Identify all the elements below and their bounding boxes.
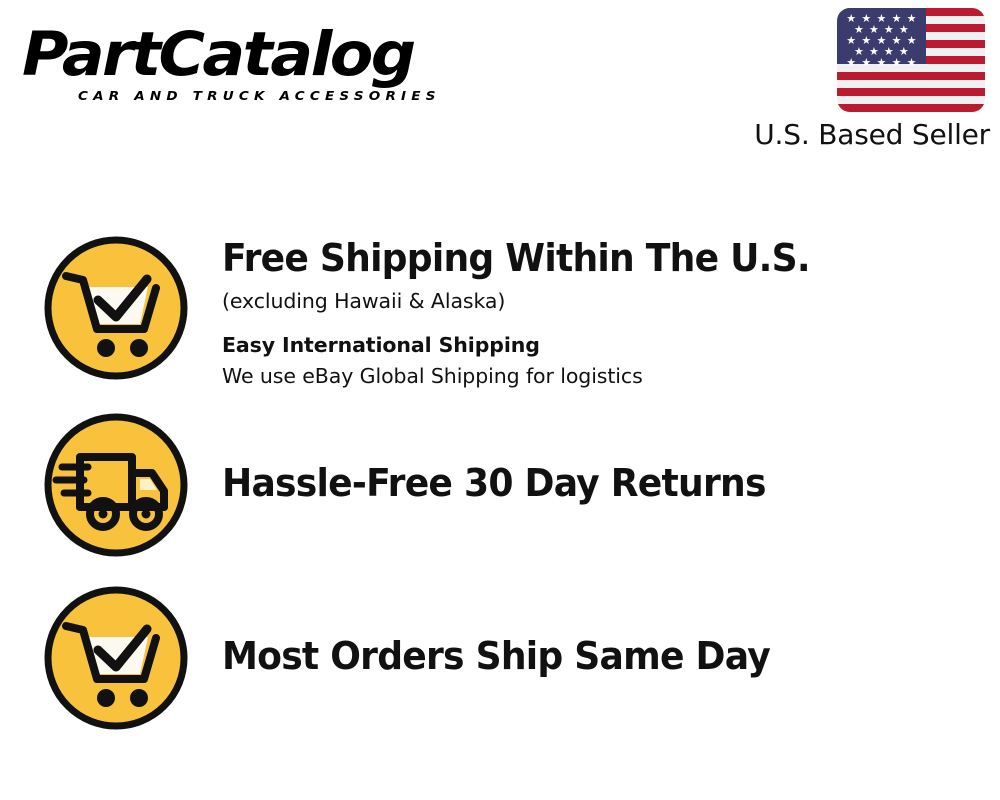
- feature-sub-detail: We use eBay Global Shipping for logistic…: [222, 361, 841, 391]
- flag-stars: ★ ★ ★ ★ ★ ★ ★ ★ ★ ★ ★ ★: [837, 8, 926, 64]
- feature-heading: Free Shipping Within The U.S.: [222, 236, 810, 280]
- page-header: PartCatalog CAR AND TRUCK ACCESSORIES: [0, 0, 1000, 170]
- brand-wordmark: PartCatalog: [22, 22, 511, 88]
- feature-sub-bold: Easy International Shipping: [222, 330, 841, 360]
- star-icon: ★: [907, 57, 917, 68]
- flag-stripe: [837, 80, 985, 88]
- flag-canton: ★ ★ ★ ★ ★ ★ ★ ★ ★ ★ ★ ★: [837, 8, 926, 64]
- us-based-seller-label: U.S. Based Seller: [754, 118, 990, 151]
- feature-row: Hassle-Free 30 Day Returns: [40, 409, 794, 561]
- star-icon: ★: [876, 57, 886, 68]
- cart-check-icon: [40, 582, 192, 734]
- star-icon: ★: [861, 57, 871, 68]
- star-icon: ★: [846, 57, 856, 68]
- brand-tagline: CAR AND TRUCK ACCESSORIES: [78, 89, 492, 104]
- cart-check-icon: [40, 232, 192, 384]
- brand-logo[interactable]: PartCatalog CAR AND TRUCK ACCESSORIES: [22, 22, 492, 112]
- feature-text-block: Free Shipping Within The U.S. (excluding…: [222, 232, 841, 391]
- feature-row: Free Shipping Within The U.S. (excluding…: [40, 232, 841, 391]
- feature-row: Most Orders Ship Same Day: [40, 582, 799, 734]
- flag-stripe: [837, 96, 985, 104]
- flag-stripe: [837, 72, 985, 80]
- star-icon: ★: [892, 57, 902, 68]
- flag-stripe: [837, 88, 985, 96]
- star-row: ★ ★ ★ ★ ★: [841, 57, 922, 68]
- delivery-truck-icon: [40, 409, 192, 561]
- flag-stripe: [837, 104, 985, 112]
- feature-heading: Most Orders Ship Same Day: [222, 634, 770, 678]
- feature-text-block: Most Orders Ship Same Day: [222, 582, 799, 678]
- feature-subnote: (excluding Hawaii & Alaska): [222, 286, 841, 316]
- feature-heading: Hassle-Free 30 Day Returns: [222, 461, 766, 505]
- us-based-seller-badge: ★ ★ ★ ★ ★ ★ ★ ★ ★ ★ ★ ★: [720, 8, 990, 151]
- feature-text-block: Hassle-Free 30 Day Returns: [222, 409, 794, 505]
- us-flag-icon: ★ ★ ★ ★ ★ ★ ★ ★ ★ ★ ★ ★: [837, 8, 985, 112]
